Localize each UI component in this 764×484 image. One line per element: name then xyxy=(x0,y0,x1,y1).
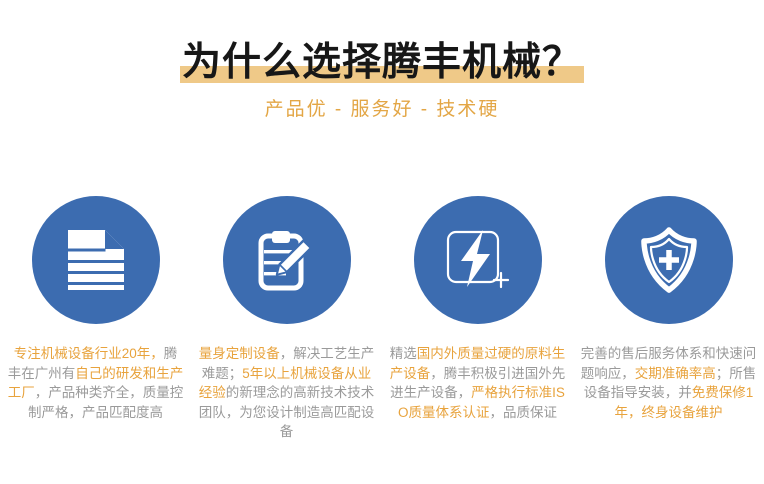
lightning-plus-icon xyxy=(443,225,513,295)
feature-column-2: 量身定制设备，解决工艺生产难题；5年以上机械设备从业经验的新理念的高新技术技术团… xyxy=(191,196,382,442)
feature-description-4: 完善的售后服务体系和快速问题响应，交期准确率高；所售设备指导安装，并免费保修1年… xyxy=(581,344,757,422)
page-subtitle: 产品优 - 服务好 - 技术硬 xyxy=(0,98,764,122)
feature-description-2: 量身定制设备，解决工艺生产难题；5年以上机械设备从业经验的新理念的高新技术技术团… xyxy=(199,344,375,442)
page-title-wrap: 为什么选择腾丰机械？ xyxy=(176,40,588,86)
feature-column-3: 精选国内外质量过硬的原料生产设备，腾丰积极引进国外先进生产设备，严格执行标准IS… xyxy=(382,196,573,442)
feature-description-3: 精选国内外质量过硬的原料生产设备，腾丰积极引进国外先进生产设备，严格执行标准IS… xyxy=(390,344,566,422)
desc-segment: ，产品种类齐全，质量控制严格，产品匹配度高 xyxy=(28,385,183,420)
shield-plus-icon xyxy=(634,225,704,295)
promo-banner: 为什么选择腾丰机械？ 产品优 - 服务好 - 技术硬 xyxy=(0,0,764,484)
document-pen-icon xyxy=(254,227,320,293)
desc-segment: 量身定制设备 xyxy=(199,346,280,361)
page-title: 为什么选择腾丰机械？ xyxy=(182,41,582,84)
desc-segment: 精选 xyxy=(390,346,417,361)
feature-columns: 专注机械设备行业20年，腾丰在广州有自己的研发和生产工厂，产品种类齐全，质量控制… xyxy=(0,196,764,442)
icon-circle-2 xyxy=(223,196,351,324)
document-lines-icon xyxy=(65,227,127,293)
icon-circle-4 xyxy=(605,196,733,324)
feature-column-4: 完善的售后服务体系和快速问题响应，交期准确率高；所售设备指导安装，并免费保修1年… xyxy=(573,196,764,442)
icon-circle-1 xyxy=(32,196,160,324)
desc-segment: 的新理念的高新技术技术团队，为您设计制造高匹配设备 xyxy=(199,385,375,439)
desc-segment: ，品质保证 xyxy=(490,405,558,420)
desc-segment: 专注机械设备行业20年， xyxy=(14,346,164,361)
header: 为什么选择腾丰机械？ 产品优 - 服务好 - 技术硬 xyxy=(0,0,764,122)
icon-circle-3 xyxy=(414,196,542,324)
feature-column-1: 专注机械设备行业20年，腾丰在广州有自己的研发和生产工厂，产品种类齐全，质量控制… xyxy=(0,196,191,442)
desc-segment: 交期准确率高 xyxy=(635,366,716,381)
feature-description-1: 专注机械设备行业20年，腾丰在广州有自己的研发和生产工厂，产品种类齐全，质量控制… xyxy=(8,344,184,422)
